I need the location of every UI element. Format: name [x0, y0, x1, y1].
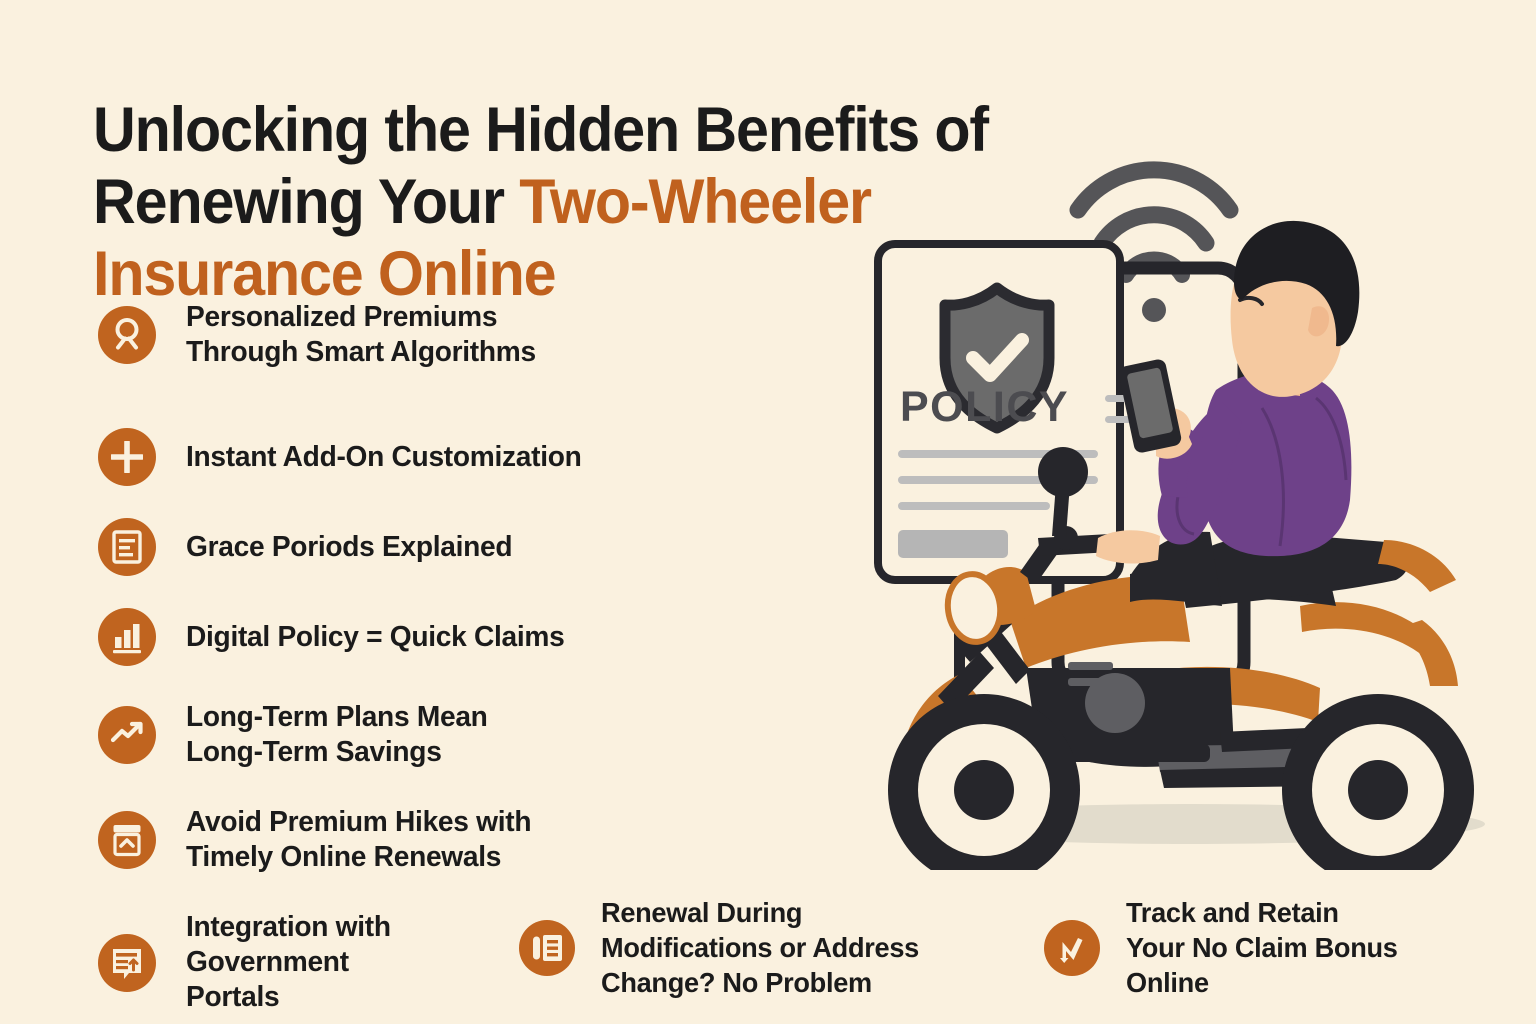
infographic-canvas: Unlocking the Hidden Benefits of Renewin…: [0, 0, 1536, 1024]
benefit-item-renewal-during-modifications[interactable]: Renewal During Modifications or Address …: [519, 895, 929, 1000]
bar-chart-icon: [98, 608, 156, 666]
benefit-label: Avoid Premium Hikes with Timely Online R…: [186, 805, 531, 875]
benefit-item-long-term-savings[interactable]: Long-Term Plans Mean Long-Term Savings: [98, 700, 497, 770]
benefit-label: Renewal During Modifications or Address …: [601, 895, 919, 1000]
benefit-item-avoid-premium-hikes[interactable]: Avoid Premium Hikes with Timely Online R…: [98, 805, 542, 875]
benefit-label: Instant Add-On Customization: [186, 440, 582, 475]
person-on-motorcycle: [1096, 221, 1456, 608]
trending-up-icon: [98, 706, 156, 764]
benefit-item-addon-customization[interactable]: Instant Add-On Customization: [98, 428, 594, 486]
title-line-2-plain: Renewing Your: [93, 167, 519, 237]
user-search-icon: [98, 306, 156, 364]
plus-icon: [98, 428, 156, 486]
benefit-label: Digital Policy = Quick Claims: [186, 620, 564, 655]
document-upload-icon: [98, 934, 156, 992]
document-lines-icon: [98, 518, 156, 576]
benefit-item-government-portals[interactable]: Integration with Government Portals: [98, 910, 397, 1015]
benefit-label: Track and Retain Your No Claim Bonus Onl…: [1126, 895, 1398, 1000]
benefit-item-grace-periods[interactable]: Grace Poriods Explained: [98, 518, 522, 576]
benefit-item-personalized-premiums[interactable]: Personalized Premiums Through Smart Algo…: [98, 300, 547, 370]
benefit-item-no-claim-bonus[interactable]: Track and Retain Your No Claim Bonus Onl…: [1044, 895, 1406, 1000]
illustration: POLICY: [830, 140, 1536, 870]
archive-up-icon: [98, 811, 156, 869]
benefit-item-quick-claims[interactable]: Digital Policy = Quick Claims: [98, 608, 576, 666]
benefit-label: Personalized Premiums Through Smart Algo…: [186, 300, 536, 370]
id-card-icon: [519, 920, 575, 976]
benefit-label: Integration with Government Portals: [186, 910, 391, 1015]
title-line-3-accent: Insurance Online: [93, 239, 555, 309]
nc-bonus-icon: [1044, 920, 1100, 976]
policy-heading: POLICY: [900, 383, 1069, 431]
title-line-2-accent: Two-Wheeler: [519, 167, 871, 237]
policy-card: POLICY: [878, 244, 1155, 580]
benefit-label: Long-Term Plans Mean Long-Term Savings: [186, 700, 488, 770]
benefit-label: Grace Poriods Explained: [186, 530, 512, 565]
